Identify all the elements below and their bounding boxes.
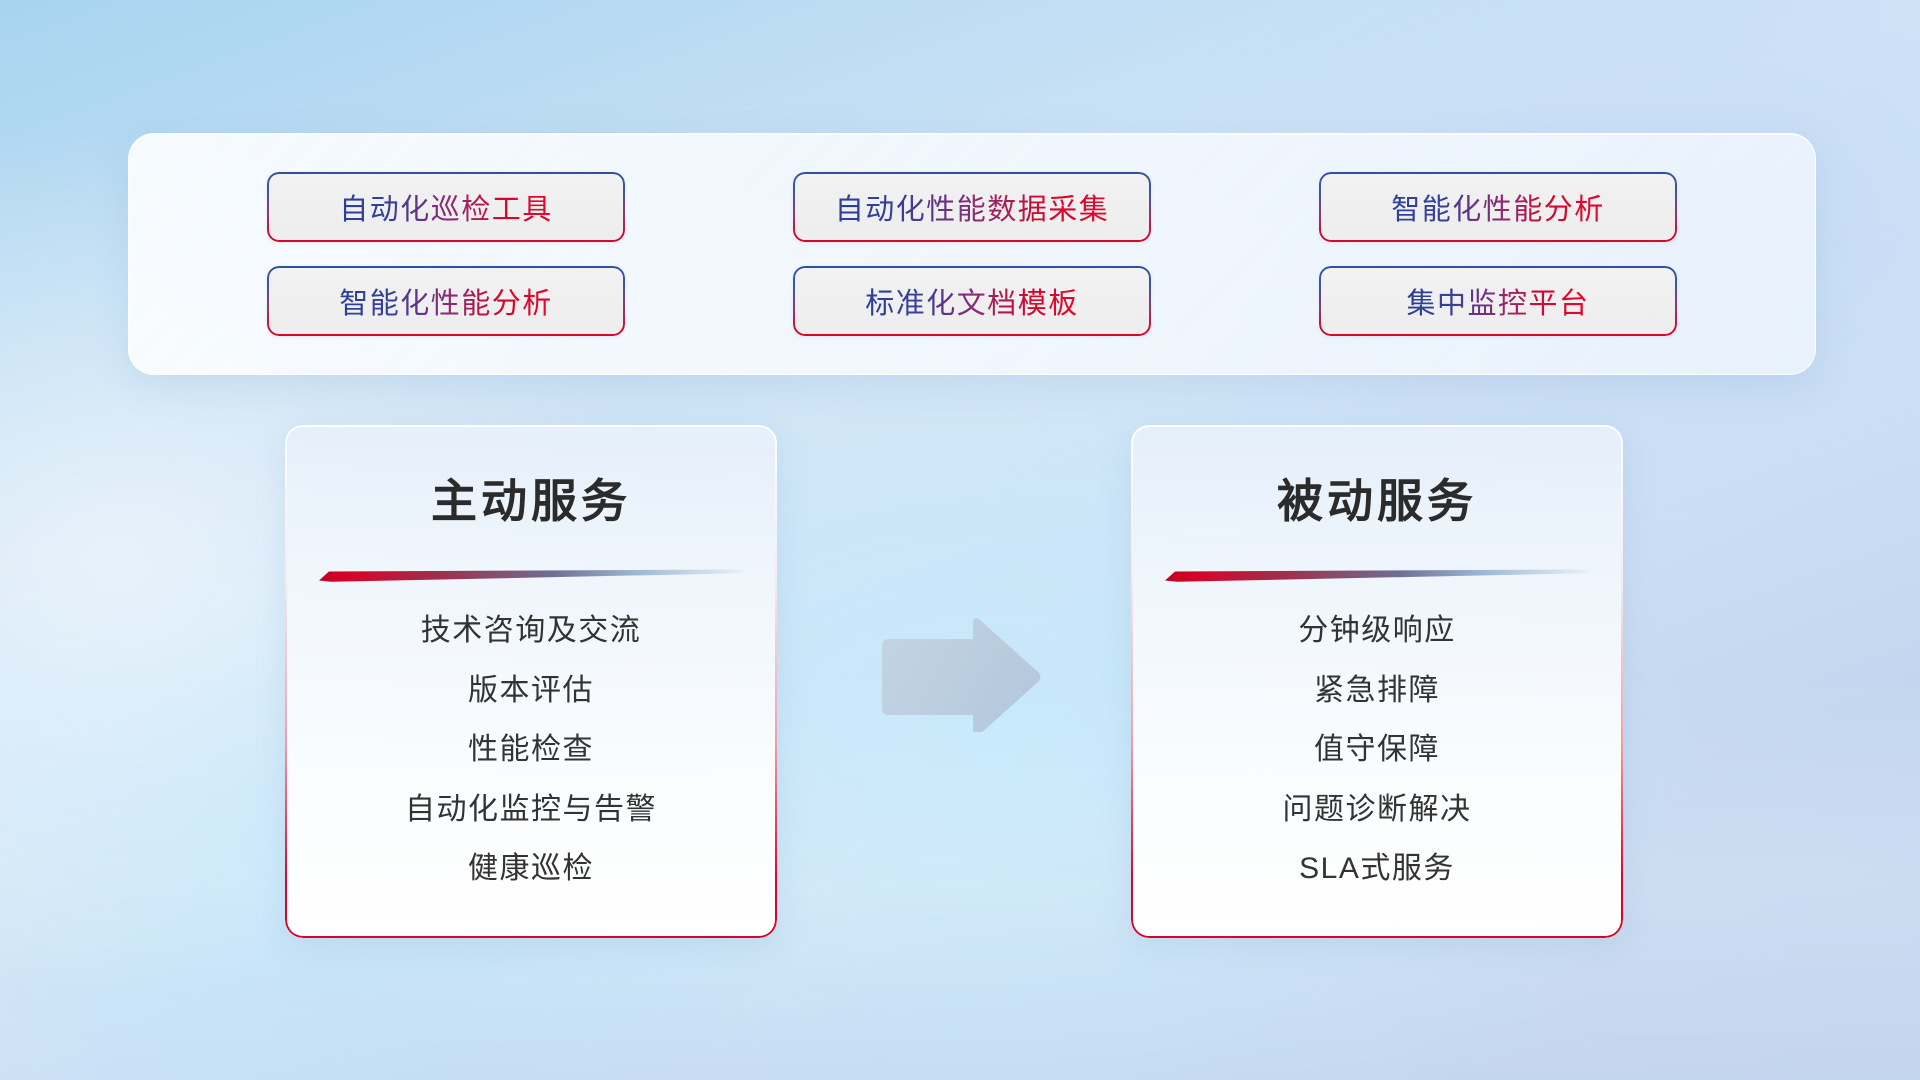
list-item: 版本评估 [468,668,594,715]
capabilities-row-1: 自动化巡检工具 自动化性能数据采集 智能化性能分析 [129,172,1815,242]
capability-pill-label: 标准化文档模板 [865,280,1079,322]
capability-pill-centralized-monitoring-platform[interactable]: 集中监控平台 [1319,266,1677,336]
service-card-list: 分钟级响应 紧急排障 值守保障 问题诊断解决 SLA式服务 [1131,608,1623,893]
list-item: 技术咨询及交流 [421,608,642,655]
list-item: 健康巡检 [468,846,594,893]
capability-pill-label: 智能化性能分析 [1391,186,1605,228]
service-card-title: 主动服务 [285,465,777,531]
capability-pill-label: 智能化性能分析 [339,280,553,322]
capability-pill-intelligent-performance-analysis-top[interactable]: 智能化性能分析 [1319,172,1677,242]
list-item: 值守保障 [1314,727,1440,774]
list-item: 问题诊断解决 [1283,787,1472,834]
list-item: SLA式服务 [1299,846,1455,893]
list-item: 紧急排障 [1314,668,1440,715]
list-item: 性能检查 [468,727,594,774]
capability-pill-standardized-document-template[interactable]: 标准化文档模板 [793,266,1151,336]
capability-pill-intelligent-performance-analysis[interactable]: 智能化性能分析 [267,266,625,336]
service-card-title: 被动服务 [1131,465,1623,531]
capabilities-panel: 自动化巡检工具 自动化性能数据采集 智能化性能分析 智能化性能分析 标准化文档模… [128,133,1816,375]
capability-pill-automated-performance-data-collection[interactable]: 自动化性能数据采集 [793,172,1151,242]
capability-pill-label: 自动化巡检工具 [339,186,553,228]
arrow-right-icon [876,612,1042,732]
capability-pill-label: 自动化性能数据采集 [835,186,1110,228]
title-divider [1165,569,1589,582]
capability-pill-label: 集中监控平台 [1406,280,1589,322]
capabilities-row-2: 智能化性能分析 标准化文档模板 集中监控平台 [129,266,1815,336]
service-card-reactive[interactable]: 被动服务 分钟级响应 紧急排障 值守保障 问题诊断解决 SLA式服务 [1131,425,1623,938]
service-card-proactive[interactable]: 主动服务 技术咨询及交流 版本评估 性能检查 自动化监控与告警 健康巡检 [285,425,777,938]
list-item: 分钟级响应 [1298,608,1456,655]
list-item: 自动化监控与告警 [405,787,657,834]
service-card-list: 技术咨询及交流 版本评估 性能检查 自动化监控与告警 健康巡检 [285,608,777,893]
capability-pill-automated-inspection-tool[interactable]: 自动化巡检工具 [267,172,625,242]
title-divider [319,569,743,582]
